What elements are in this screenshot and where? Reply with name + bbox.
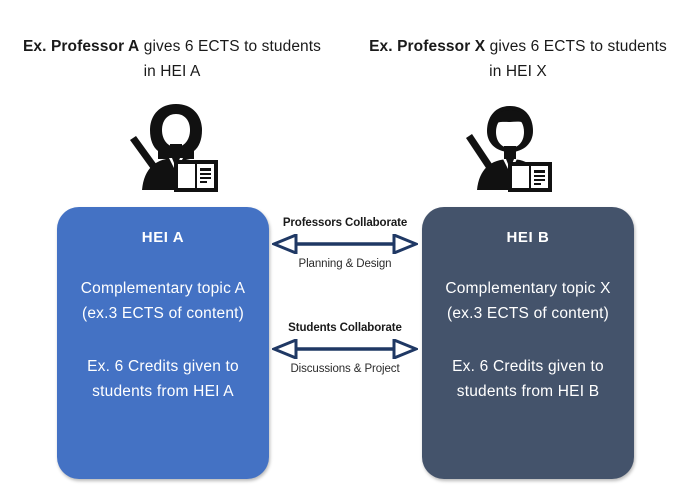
hei-box-right-paragraph-1: Complementary topic X (ex.3 ECTS of cont… xyxy=(436,276,620,326)
heading-right: Ex. Professor X gives 6 ECTS to students… xyxy=(368,34,668,84)
double-headed-arrow-icon xyxy=(272,234,418,254)
professor-teaching-icon xyxy=(460,102,556,194)
diagram-canvas: Ex. Professor A gives 6 ECTS to students… xyxy=(0,0,690,504)
heading-left-rest: gives 6 ECTS to students in HEI A xyxy=(139,38,321,80)
hei-box-left-title: HEI A xyxy=(71,229,255,246)
hei-box-left: HEI A Complementary topic A (ex.3 ECTS o… xyxy=(57,207,269,479)
hei-box-right-paragraph-2: Ex. 6 Credits given to students from HEI… xyxy=(436,354,620,404)
heading-left-strong: Ex. Professor A xyxy=(23,38,139,55)
hei-box-left-paragraph-1: Complementary topic A (ex.3 ECTS of cont… xyxy=(71,276,255,326)
heading-left: Ex. Professor A gives 6 ECTS to students… xyxy=(22,34,322,84)
connector-professors: Professors Collaborate Planning & Design xyxy=(272,216,418,271)
hei-box-right: HEI B Complementary topic X (ex.3 ECTS o… xyxy=(422,207,634,479)
connector-students-subtitle: Discussions & Project xyxy=(272,362,418,376)
connector-students: Students Collaborate Discussions & Proje… xyxy=(272,321,418,376)
hei-box-left-paragraph-2: Ex. 6 Credits given to students from HEI… xyxy=(71,354,255,404)
connector-professors-subtitle: Planning & Design xyxy=(272,257,418,271)
professor-teaching-icon xyxy=(128,102,224,194)
heading-right-rest: gives 6 ECTS to students in HEI X xyxy=(485,38,667,80)
connector-professors-title: Professors Collaborate xyxy=(272,216,418,230)
heading-right-strong: Ex. Professor X xyxy=(369,38,485,55)
hei-box-right-title: HEI B xyxy=(436,229,620,246)
double-headed-arrow-icon xyxy=(272,339,418,359)
connector-students-title: Students Collaborate xyxy=(272,321,418,335)
